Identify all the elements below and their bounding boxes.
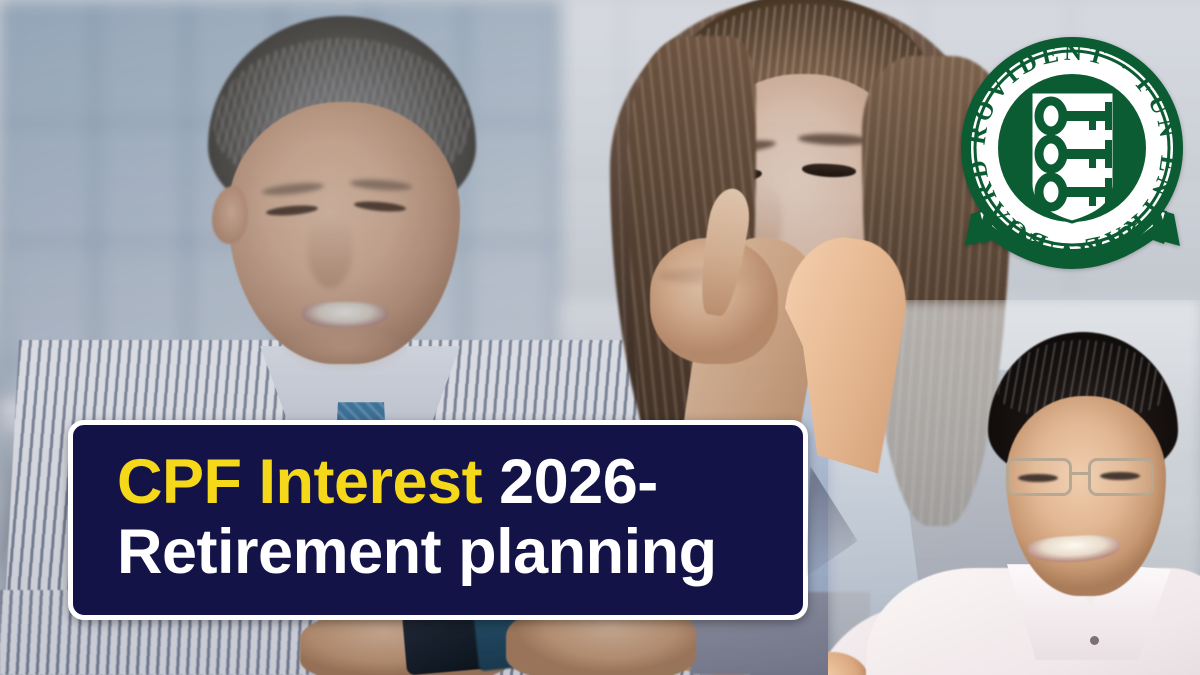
thumbnail-canvas: PROVIDENT · FUND CENTRAL · BOARD · SINGA…	[0, 0, 1200, 675]
title-line-1-rest: 2026-	[482, 447, 658, 517]
inset-shirt-buttons	[1090, 636, 1100, 675]
title-line-1: CPF Interest 2026-	[117, 450, 789, 514]
shirt-button	[1090, 636, 1099, 645]
eyeglass-lens-left	[1006, 458, 1072, 496]
cpf-logo-icon: PROVIDENT · FUND CENTRAL · BOARD · SINGA…	[955, 18, 1190, 286]
title-line-2: Retirement planning	[117, 520, 789, 584]
inset-eyeglasses	[1004, 458, 1172, 498]
title-banner: CPF Interest 2026- Retirement planning	[68, 420, 808, 620]
title-highlight: CPF Interest	[117, 447, 482, 517]
eyeglass-lens-right	[1088, 458, 1154, 496]
